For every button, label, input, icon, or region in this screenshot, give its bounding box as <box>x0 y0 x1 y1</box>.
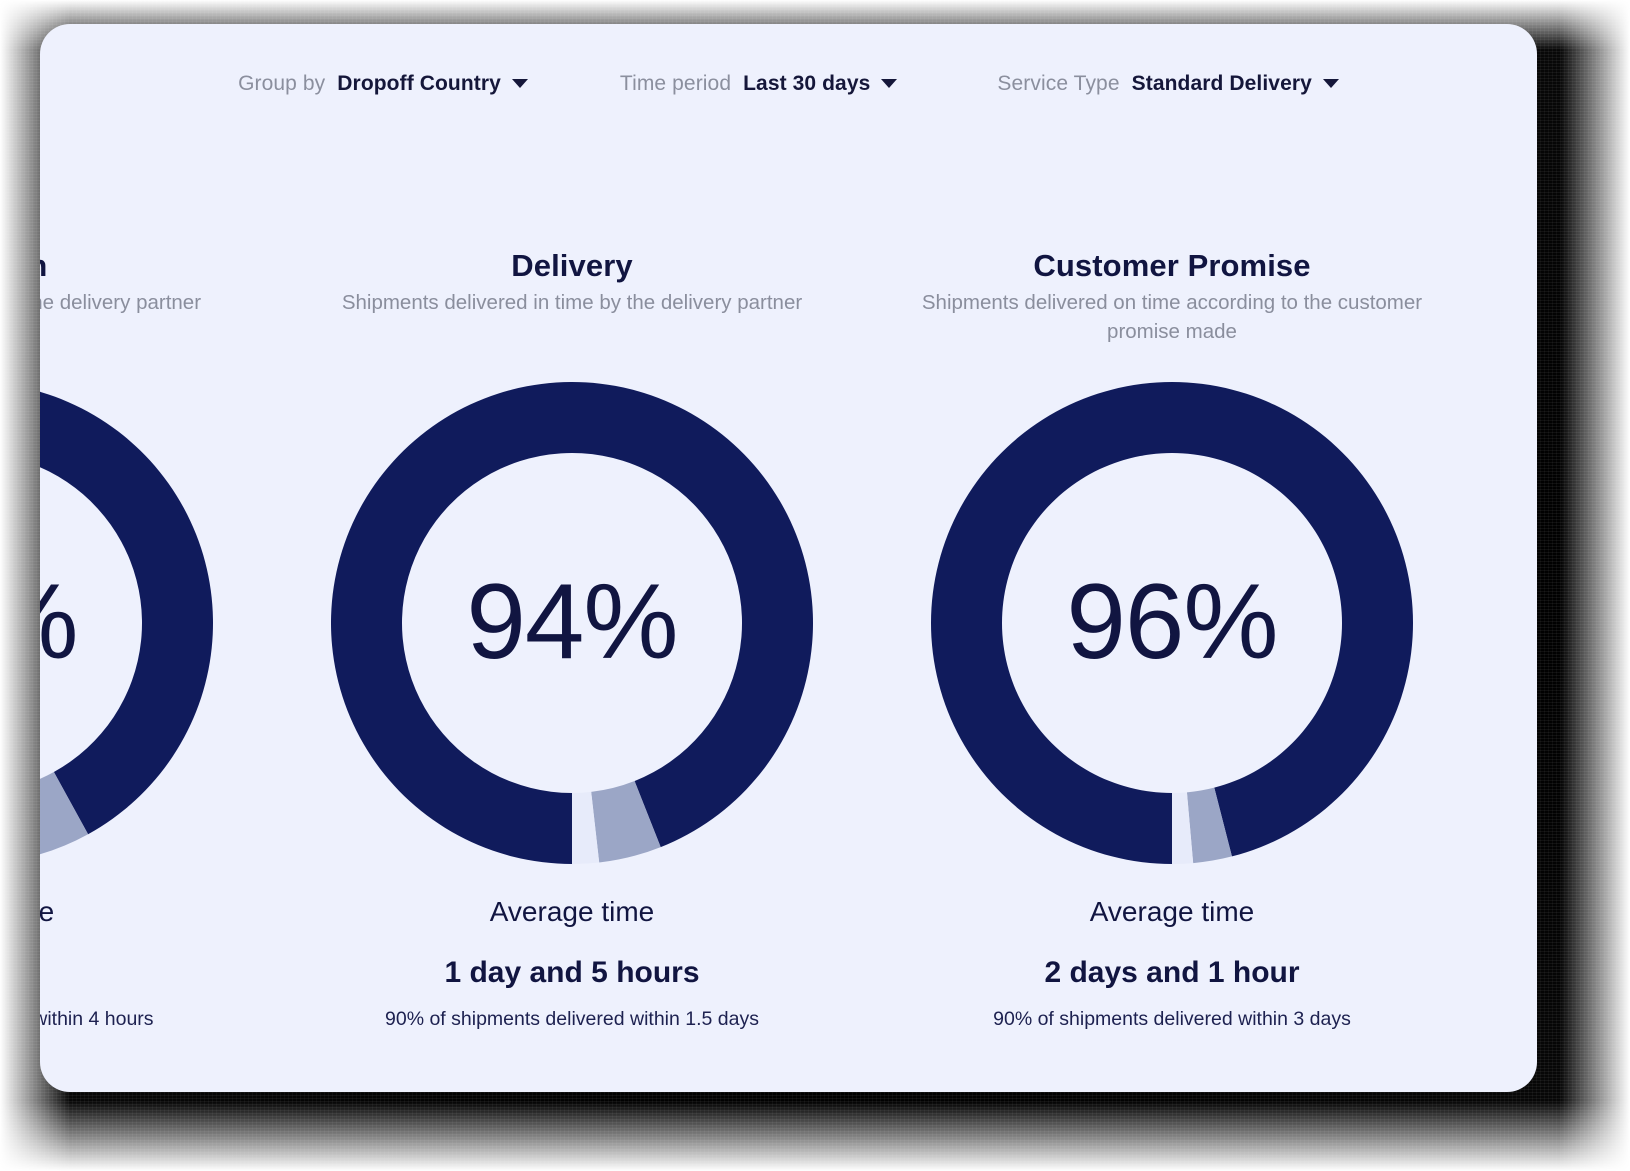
donut-svg <box>931 382 1413 864</box>
card-title-customer-promise: Customer Promise <box>872 248 1472 284</box>
filter-label-group-by: Group by <box>238 72 325 96</box>
avg-time-note-delivery: 90% of shipments delivered within 1.5 da… <box>272 1008 872 1031</box>
metric-card-customer-promise: Customer Promise Shipments delivered on … <box>872 144 1472 1092</box>
avg-time-value-collection: 3 hours <box>40 956 272 990</box>
avg-time-label-customer-promise: Average time <box>872 896 1472 928</box>
chevron-down-icon[interactable] <box>881 79 897 88</box>
card-subtitle-collection: Shipments collected in time by the deliv… <box>40 288 272 317</box>
chevron-down-icon[interactable] <box>512 79 528 88</box>
filter-value-service-type[interactable]: Standard Delivery <box>1132 72 1312 96</box>
bezel-fade-bottom <box>0 1101 1630 1171</box>
filter-label-service-type: Service Type <box>997 72 1119 96</box>
donut-chart-delivery[interactable]: 94% <box>331 382 813 864</box>
metric-card-collection: Collection Shipments collected in time b… <box>40 144 272 1092</box>
donut-segment-on-time <box>931 382 1413 864</box>
card-subtitle-delivery: Shipments delivered in time by the deliv… <box>272 288 872 317</box>
donut-segment-on-time <box>331 382 813 864</box>
avg-time-label-collection: Average time <box>40 896 272 928</box>
filter-group-by[interactable]: Group by Dropoff Country <box>238 72 528 96</box>
filter-label-time-period: Time period <box>620 72 731 96</box>
metric-columns: Collection Shipments collected in time b… <box>40 144 1537 1092</box>
filter-value-time-period[interactable]: Last 30 days <box>743 72 870 96</box>
filter-bar: Group by Dropoff Country Time period Las… <box>40 24 1537 144</box>
bezel-fade-right <box>1560 0 1630 1171</box>
card-title-collection: Collection <box>40 248 272 284</box>
avg-time-value-customer-promise: 2 days and 1 hour <box>872 956 1472 990</box>
donut-segment-on-time <box>40 382 213 864</box>
filter-time-period[interactable]: Time period Last 30 days <box>620 72 897 96</box>
donut-svg <box>331 382 813 864</box>
dashboard-panel: Group by Dropoff Country Time period Las… <box>40 24 1537 1092</box>
donut-chart-customer-promise[interactable]: 96% <box>931 382 1413 864</box>
chevron-down-icon[interactable] <box>1323 79 1339 88</box>
avg-time-value-delivery: 1 day and 5 hours <box>272 956 872 990</box>
filter-service-type[interactable]: Service Type Standard Delivery <box>997 72 1339 96</box>
avg-time-label-delivery: Average time <box>272 896 872 928</box>
avg-time-note-customer-promise: 90% of shipments delivered within 3 days <box>872 1008 1472 1031</box>
filter-value-group-by[interactable]: Dropoff Country <box>337 72 501 96</box>
metric-card-delivery: Delivery Shipments delivered in time by … <box>272 144 872 1092</box>
donut-chart-collection[interactable]: 92% <box>40 382 213 864</box>
card-subtitle-customer-promise: Shipments delivered on time according to… <box>872 288 1472 346</box>
avg-time-note-collection: 90% of shipments collected within 4 hour… <box>40 1008 272 1031</box>
donut-svg <box>40 382 213 864</box>
card-title-delivery: Delivery <box>272 248 872 284</box>
